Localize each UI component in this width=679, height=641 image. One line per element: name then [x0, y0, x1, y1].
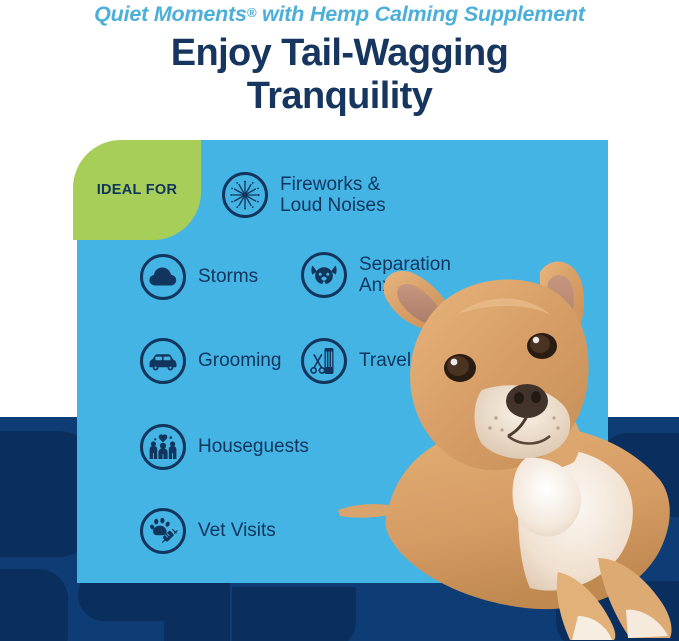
registered-trademark-icon: ® — [247, 5, 256, 20]
benefit-item-vet-visits: Vet Visits — [140, 508, 276, 554]
comb-scissors-icon — [301, 338, 347, 384]
benefit-label: Storms — [198, 266, 258, 287]
product-benefit-graphic: Quiet Moments® with Hemp Calming Supplem… — [0, 0, 679, 641]
benefit-item-fireworks: Fireworks & Loud Noises — [222, 172, 386, 218]
brand-name: Quiet Moments — [94, 2, 247, 26]
pattern-tile — [232, 587, 356, 641]
paw-syringe-icon — [140, 508, 186, 554]
headline-line-1: Enjoy Tail-Wagging — [0, 32, 679, 75]
benefit-label: Separation Anxiety — [359, 254, 451, 297]
benefit-item-travel: Grooming — [140, 338, 281, 384]
ideal-for-badge: IDEAL FOR — [73, 140, 201, 240]
fireworks-icon — [222, 172, 268, 218]
brand-suffix: with Hemp Calming Supplement — [256, 2, 585, 26]
cloud-icon — [140, 254, 186, 300]
benefit-item-separation-anxiety: Separation Anxiety — [301, 252, 451, 298]
benefit-label: Houseguests — [198, 436, 309, 457]
benefit-item-grooming: Travel — [301, 338, 411, 384]
benefit-label: Vet Visits — [198, 520, 276, 541]
benefit-item-houseguests: Houseguests — [140, 424, 309, 470]
page-title: Enjoy Tail-Wagging Tranquility — [0, 32, 679, 117]
benefit-label: Grooming — [198, 350, 281, 371]
ideal-for-label: IDEAL FOR — [97, 182, 178, 198]
car-icon — [140, 338, 186, 384]
benefit-label: Travel — [359, 350, 411, 371]
pattern-tile — [600, 433, 679, 517]
headline-line-2: Tranquility — [0, 75, 679, 118]
benefit-item-storms: Storms — [140, 254, 258, 300]
benefit-label: Fireworks & Loud Noises — [280, 174, 386, 217]
pattern-tile — [556, 581, 679, 641]
pattern-tile — [0, 569, 68, 641]
brand-subtitle: Quiet Moments® with Hemp Calming Supplem… — [0, 2, 679, 27]
family-heart-icon — [140, 424, 186, 470]
dog-face-icon — [301, 252, 347, 298]
